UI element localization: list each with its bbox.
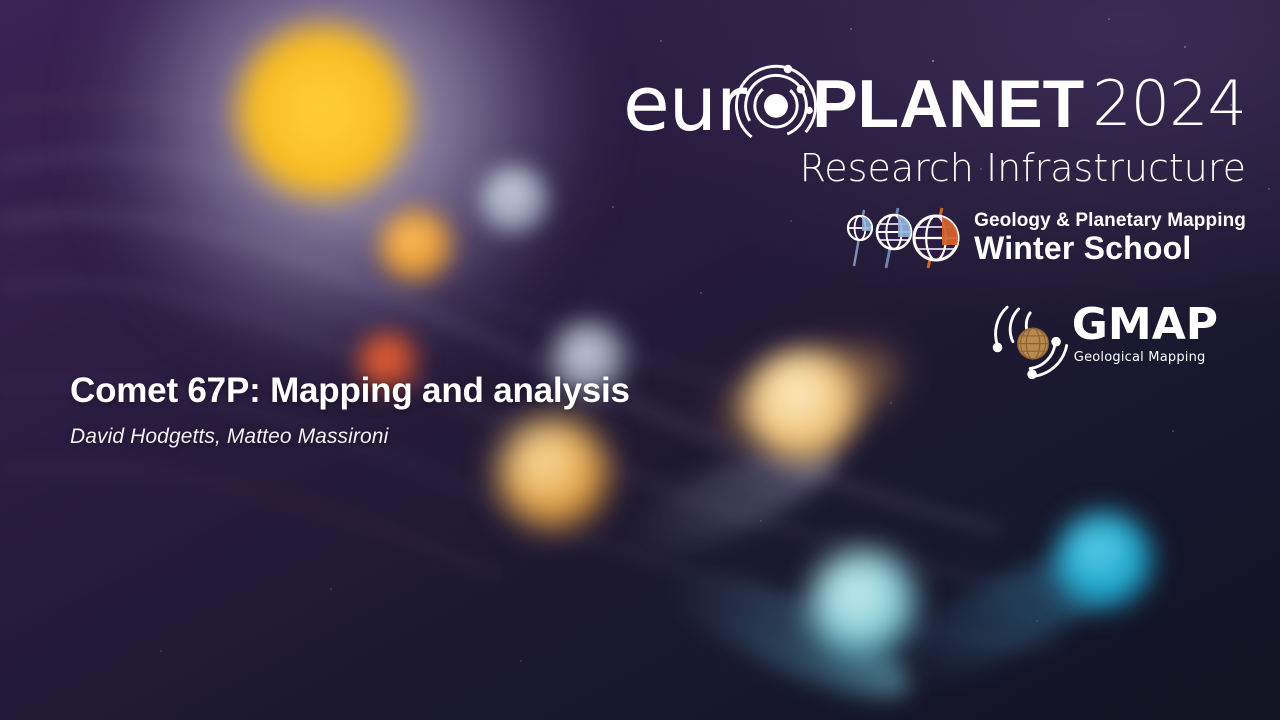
logo-stack: eur PLANET 2024 xyxy=(626,58,1246,382)
sun-icon xyxy=(237,25,409,197)
europlanet-eur-text: eur xyxy=(623,70,746,138)
europlanet-orbital-icon xyxy=(730,58,822,150)
neptune-bokeh xyxy=(1056,512,1152,608)
winter-school-title: Winter School xyxy=(974,232,1246,265)
gmap-title: GMAP xyxy=(1072,303,1218,347)
europlanet-logo: eur PLANET 2024 xyxy=(623,58,1246,190)
gmap-orbital-globe-icon xyxy=(986,286,1082,382)
presentation-slide: eur PLANET 2024 xyxy=(0,0,1280,720)
mercury-bokeh xyxy=(480,166,548,234)
gmap-logo: GMAP Geological Mapping xyxy=(986,286,1218,382)
europlanet-wordmark: eur PLANET 2024 xyxy=(623,58,1246,150)
uranus-bokeh xyxy=(810,550,916,656)
winter-school-logo: Geology & Planetary Mapping Winter Schoo… xyxy=(846,206,1246,270)
europlanet-subtitle: Research Infrastructure xyxy=(800,146,1246,190)
title-block: Comet 67P: Mapping and analysis David Ho… xyxy=(70,370,630,449)
slide-authors: David Hodgetts, Matteo Massironi xyxy=(70,425,630,449)
venus-bokeh xyxy=(380,210,452,282)
slide-title: Comet 67P: Mapping and analysis xyxy=(70,370,630,411)
gmap-subtitle: Geological Mapping xyxy=(1074,350,1218,365)
three-globes-icon xyxy=(846,206,964,270)
europlanet-year: 2024 xyxy=(1092,73,1246,135)
europlanet-planet-text: PLANET xyxy=(812,70,1084,138)
winter-school-tagline: Geology & Planetary Mapping xyxy=(974,210,1246,232)
